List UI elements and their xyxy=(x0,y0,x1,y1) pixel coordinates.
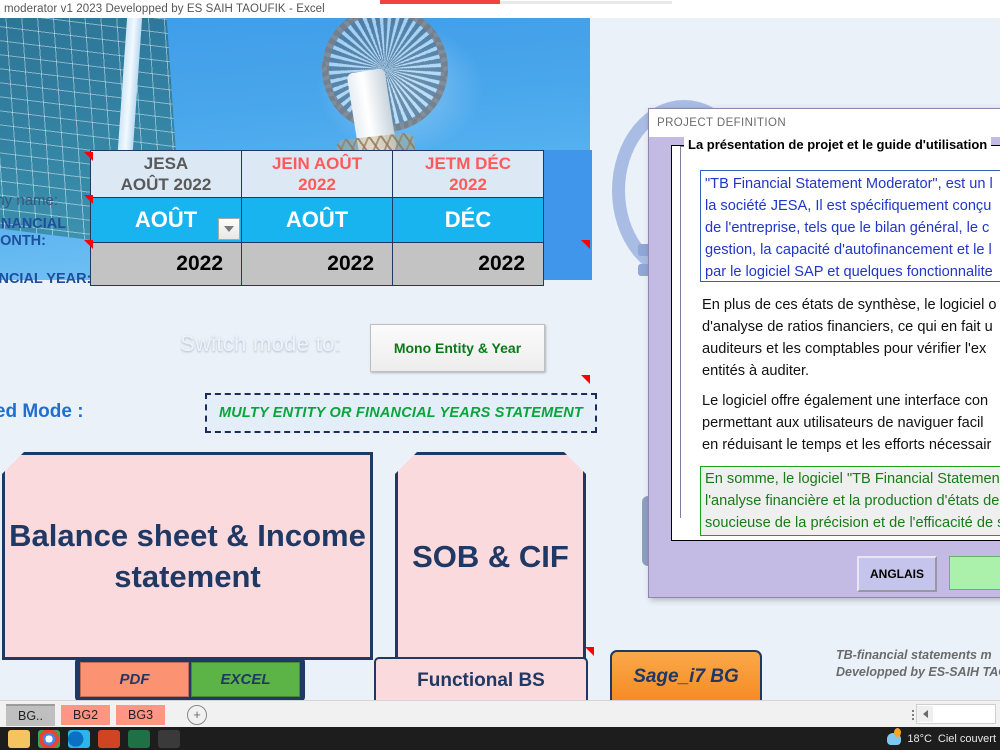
ribbon-red-accent xyxy=(380,0,500,4)
table-year-row: 2022 2022 2022 xyxy=(91,243,544,286)
comment-marker-icon[interactable] xyxy=(84,152,93,161)
table-header-cell-1[interactable]: JESA AOÛT 2022 xyxy=(91,151,242,198)
weather-icon xyxy=(887,733,901,745)
switch-mode-label: Switch mode to: xyxy=(180,331,341,357)
tab-overflow-icon[interactable] xyxy=(912,710,914,720)
para3-line-3: en réduisant le temps et les efforts néc… xyxy=(702,434,991,456)
para2-line-3: auditeurs et les comptables pour vérifie… xyxy=(702,338,996,360)
sage-i7-bg-button[interactable]: Sage_i7 BG xyxy=(610,650,762,700)
credit-line1: TB-financial statements m xyxy=(836,648,992,662)
dialog-caption-text: PROJECT DEFINITION xyxy=(657,117,786,129)
label-financial-month: FINANCIAL MONTH: xyxy=(0,216,66,250)
window-title: moderator v1 2023 Developped by ES SAIH … xyxy=(0,3,325,15)
comment-marker-icon[interactable] xyxy=(84,240,93,249)
powerpoint-icon[interactable] xyxy=(98,730,120,748)
label-financial-month-line2: MONTH: xyxy=(0,233,46,249)
window-title-bar: moderator v1 2023 Developped by ES SAIH … xyxy=(0,0,1000,19)
worksheet-canvas[interactable]: any name: FINANCIAL MONTH: ANCIAL YEAR: … xyxy=(0,18,1000,700)
credit-text: TB-financial statements m Developped by … xyxy=(836,647,1000,681)
year-cell-1[interactable]: 2022 xyxy=(91,243,242,286)
header-2-line2: 2022 xyxy=(298,175,336,194)
comment-marker-icon[interactable] xyxy=(84,195,93,204)
para3-line-2: permettant aux utilisateurs de naviguer … xyxy=(702,412,991,434)
sob-cif-button[interactable]: SOB & CIF xyxy=(395,452,586,660)
acrobat-icon[interactable] xyxy=(158,730,180,748)
export-pdf-button[interactable]: PDF xyxy=(80,662,189,697)
activated-mode-label: ated Mode : xyxy=(0,401,84,423)
dialog-paragraph-2: En plus de ces états de synthèse, le log… xyxy=(702,294,996,382)
dialog-caption[interactable]: PROJECT DEFINITION xyxy=(649,109,1000,137)
weather-desc: Ciel couvert xyxy=(938,733,996,745)
para2-line-2: d'analyse de ratios financiers, ce qui e… xyxy=(702,316,996,338)
green-action-button[interactable] xyxy=(949,556,1000,590)
dialog-conclusion-box: En somme, le logiciel "TB Financial Stat… xyxy=(700,466,1000,536)
year-cell-2[interactable]: 2022 xyxy=(242,243,393,286)
file-explorer-icon[interactable] xyxy=(8,730,30,748)
edge-icon[interactable] xyxy=(68,730,90,748)
header-1-line2: AOÛT 2022 xyxy=(121,175,212,194)
intro-line-2: la société JESA, Il est spécifiquement c… xyxy=(705,195,1000,217)
horizontal-scrollbar[interactable] xyxy=(916,704,996,724)
project-definition-dialog[interactable]: PROJECT DEFINITION La présentation de pr… xyxy=(648,108,1000,598)
excel-icon[interactable] xyxy=(128,730,150,748)
dialog-body: La présentation de projet et le guide d'… xyxy=(671,145,1000,541)
table-header-cell-2[interactable]: JEIN AOÛT 2022 xyxy=(242,151,393,198)
comment-marker-icon[interactable] xyxy=(585,647,594,656)
comment-marker-icon[interactable] xyxy=(581,375,590,384)
chevron-down-icon[interactable] xyxy=(218,218,240,240)
conclusion-line-2: l'analyse financière et la production d'… xyxy=(705,490,1000,512)
month-cell-3[interactable]: DÉC xyxy=(393,198,544,243)
anglais-button[interactable]: ANGLAIS xyxy=(857,556,937,592)
year-cell-3[interactable]: 2022 xyxy=(393,243,544,286)
para2-line-1: En plus de ces états de synthèse, le log… xyxy=(702,294,996,316)
credit-line2: Developped by ES-SAIH TAO xyxy=(836,665,1000,679)
functional-bs-button[interactable]: Functional BS xyxy=(374,657,588,700)
intro-line-4: gestion, la capacité d'autofinancement e… xyxy=(705,239,1000,261)
export-excel-button[interactable]: EXCEL xyxy=(191,662,300,697)
entity-parameter-table[interactable]: JESA AOÛT 2022 JEIN AOÛT 2022 JETM DÉC 2… xyxy=(90,150,544,286)
label-financial-month-line1: FINANCIAL xyxy=(0,216,66,232)
header-3-line1: JETM DÉC xyxy=(425,154,511,173)
table-header-cell-3[interactable]: JETM DÉC 2022 xyxy=(393,151,544,198)
weather-temp: 18°C xyxy=(907,733,932,745)
label-company-name: any name: xyxy=(0,192,58,209)
comment-marker-icon[interactable] xyxy=(581,240,590,249)
table-month-row: AOÛT AOÛT DÉC xyxy=(91,198,544,243)
intro-line-1: "TB Financial Statement Moderator", est … xyxy=(705,173,1000,195)
table-header-row: JESA AOÛT 2022 JEIN AOÛT 2022 JETM DÉC 2… xyxy=(91,151,544,198)
system-tray[interactable]: 18°C Ciel couvert xyxy=(887,733,996,745)
export-format-group[interactable]: PDF EXCEL xyxy=(75,657,305,700)
dialog-intro-box: "TB Financial Statement Moderator", est … xyxy=(700,170,1000,282)
mono-entity-year-button[interactable]: Mono Entity & Year xyxy=(370,324,545,372)
activated-mode-value-box[interactable]: MULTY ENTITY OR FINANCIAL YEARS STATEMEN… xyxy=(205,393,597,433)
balance-sheet-income-statement-button[interactable]: Balance sheet & Income statement xyxy=(2,452,373,660)
sheet-tab-bg2[interactable]: BG2 xyxy=(61,705,110,725)
windows-taskbar[interactable]: 18°C Ciel couvert xyxy=(0,727,1000,750)
header-3-line2: 2022 xyxy=(449,175,487,194)
month-cell-2[interactable]: AOÛT xyxy=(242,198,393,243)
dialog-legend: La présentation de projet et le guide d'… xyxy=(684,137,991,152)
para3-line-1: Le logiciel offre également une interfac… xyxy=(702,390,991,412)
dialog-paragraph-3: Le logiciel offre également une interfac… xyxy=(702,390,991,456)
ribbon-grey-accent xyxy=(500,1,672,4)
intro-line-3: de l'entreprise, tels que le bilan génér… xyxy=(705,217,1000,239)
fieldset-line xyxy=(680,146,681,518)
header-2-line1: JEIN AOÛT xyxy=(272,154,362,173)
sheet-tab-bar[interactable]: BG.. BG2 BG3 + xyxy=(0,700,1000,728)
header-1-line1: JESA xyxy=(144,154,188,173)
para2-line-4: entités à auditer. xyxy=(702,360,996,382)
chrome-icon[interactable] xyxy=(38,730,60,748)
sheet-tab-bg[interactable]: BG.. xyxy=(6,704,55,726)
conclusion-line-1: En somme, le logiciel "TB Financial Stat… xyxy=(705,468,1000,490)
activated-mode-value: MULTY ENTITY OR FINANCIAL YEARS STATEMEN… xyxy=(219,405,583,421)
month-cell-2-value: AOÛT xyxy=(286,207,348,232)
sheet-tab-bg3[interactable]: BG3 xyxy=(116,705,165,725)
add-sheet-icon[interactable]: + xyxy=(187,705,207,725)
scroll-left-icon[interactable] xyxy=(917,706,933,722)
label-financial-year: ANCIAL YEAR: xyxy=(0,271,91,288)
intro-line-5: par le logiciel SAP et quelques fonction… xyxy=(705,261,1000,283)
conclusion-line-3: soucieuse de la précision et de l'effica… xyxy=(705,512,1000,534)
